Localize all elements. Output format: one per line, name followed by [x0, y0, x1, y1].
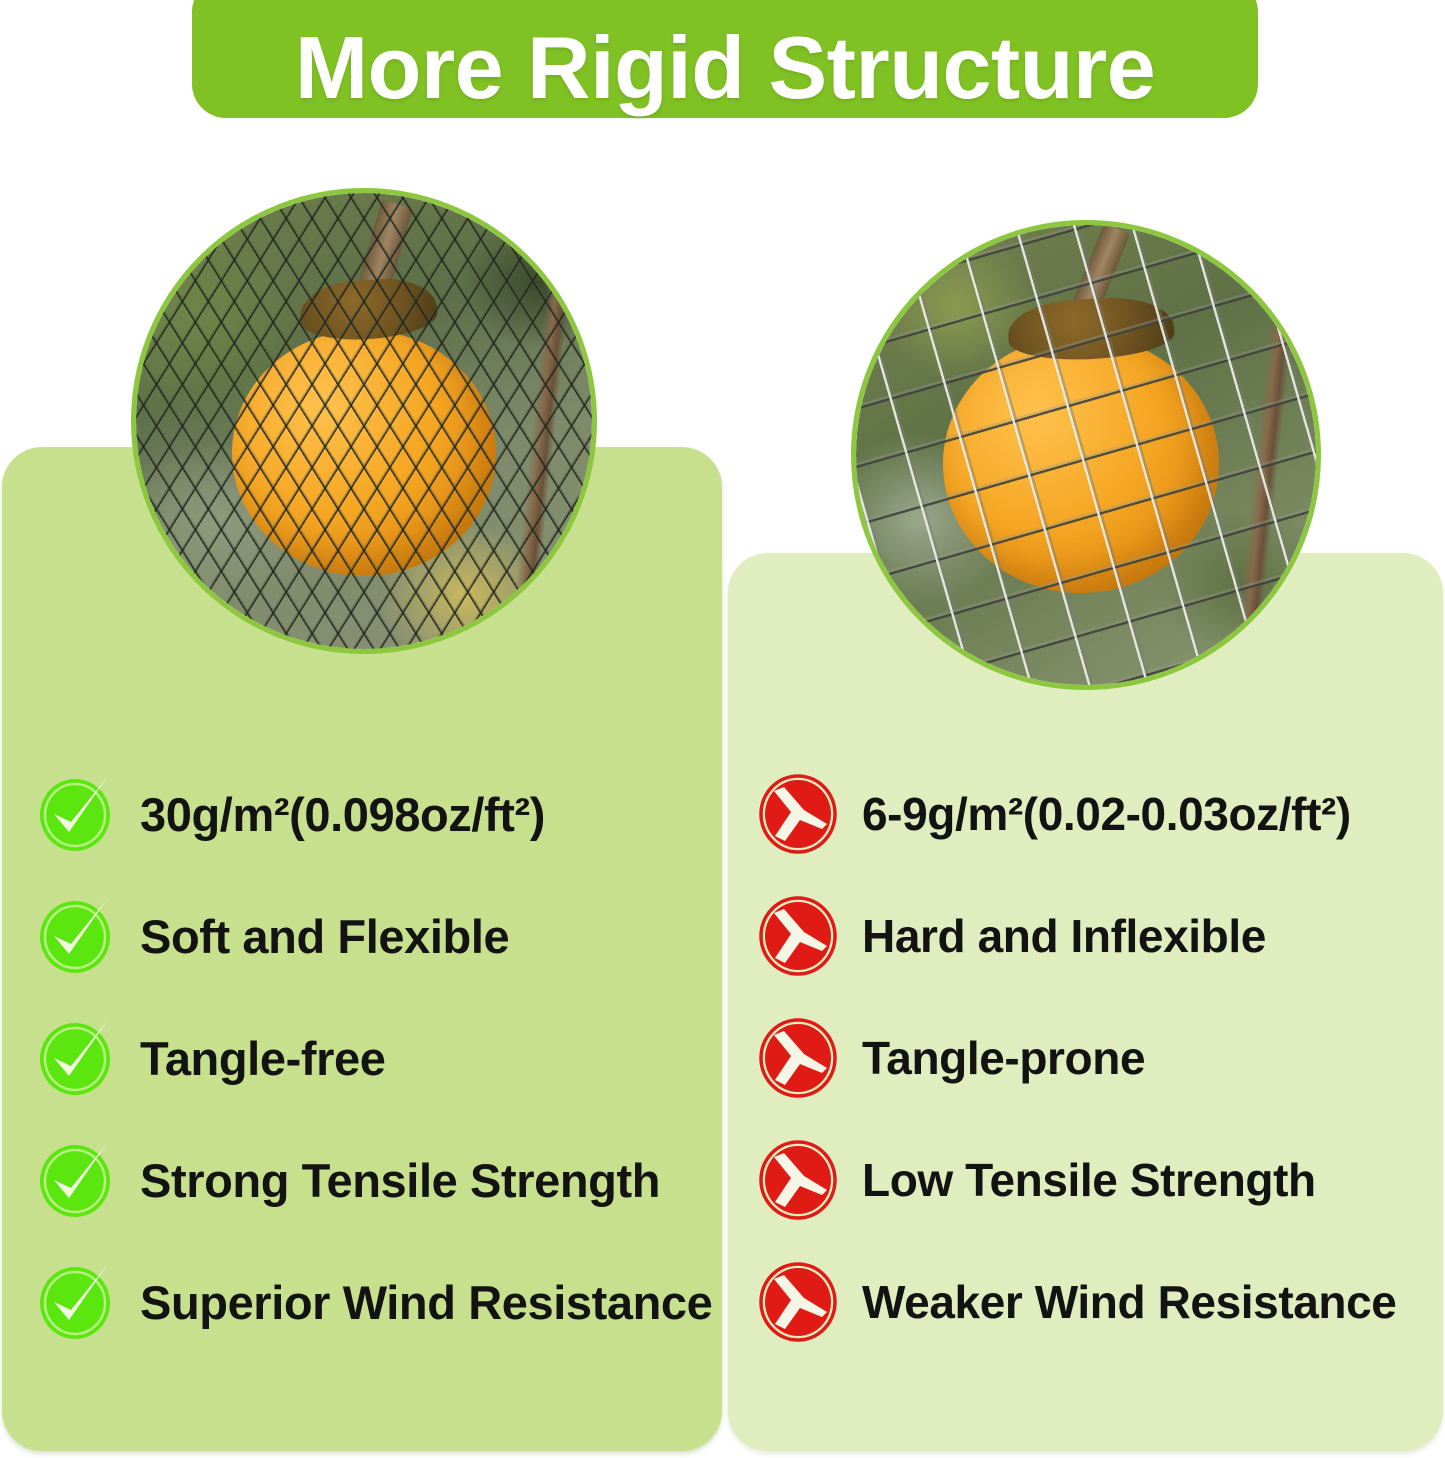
list-item: 6-9g/m²(0.02-0.03oz/ft²)	[760, 775, 1440, 853]
left-photo-content	[136, 193, 592, 649]
feature-label: Tangle-free	[140, 1035, 385, 1082]
list-item: Low Tensile Strength	[760, 1141, 1440, 1219]
list-item: 30g/m²(0.098oz/ft²)	[38, 775, 728, 853]
cross-icon	[760, 1140, 840, 1220]
feature-label: Weaker Wind Resistance	[862, 1279, 1397, 1325]
cross-icon	[760, 896, 840, 976]
list-item: Hard and Inflexible	[760, 897, 1440, 975]
check-icon	[38, 1018, 118, 1098]
right-product-photo	[851, 220, 1321, 690]
page-title: More Rigid Structure	[295, 24, 1155, 112]
feature-label: 30g/m²(0.098oz/ft²)	[140, 791, 545, 838]
list-item: Tangle-free	[38, 1019, 728, 1097]
right-photo-content	[856, 225, 1316, 685]
check-icon	[38, 1140, 118, 1220]
left-product-photo	[131, 188, 597, 654]
left-feature-list: 30g/m²(0.098oz/ft²) Soft and Flexible Ta…	[38, 775, 728, 1341]
check-icon	[38, 896, 118, 976]
feature-label: Tangle-prone	[862, 1035, 1145, 1081]
check-icon	[38, 774, 118, 854]
feature-label: Hard and Inflexible	[862, 913, 1266, 959]
feature-label: Strong Tensile Strength	[140, 1157, 660, 1204]
list-item: Superior Wind Resistance	[38, 1263, 728, 1341]
feature-label: Low Tensile Strength	[862, 1157, 1316, 1203]
right-feature-list: 6-9g/m²(0.02-0.03oz/ft²) Hard and Inflex…	[760, 775, 1440, 1341]
feature-label: Soft and Flexible	[140, 913, 509, 960]
check-icon	[38, 1262, 118, 1342]
list-item: Soft and Flexible	[38, 897, 728, 975]
cross-icon	[760, 774, 840, 854]
feature-label: Superior Wind Resistance	[140, 1279, 712, 1326]
title-banner: More Rigid Structure	[192, 0, 1258, 118]
cross-icon	[760, 1018, 840, 1098]
cross-icon	[760, 1262, 840, 1342]
list-item: Weaker Wind Resistance	[760, 1263, 1440, 1341]
feature-label: 6-9g/m²(0.02-0.03oz/ft²)	[862, 791, 1351, 837]
left-photo-fine-net	[136, 193, 592, 649]
list-item: Strong Tensile Strength	[38, 1141, 728, 1219]
right-photo-coarse-net	[856, 225, 1316, 685]
list-item: Tangle-prone	[760, 1019, 1440, 1097]
